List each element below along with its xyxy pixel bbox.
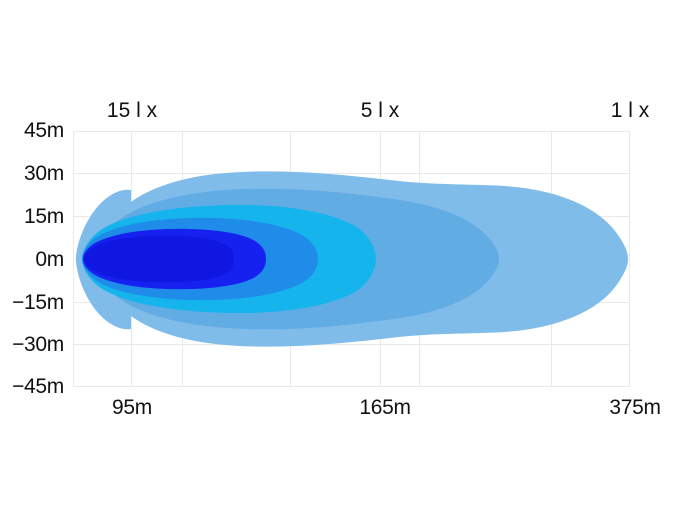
y-axis-tick-15m: 15m xyxy=(0,206,64,227)
x-axis-top-label-5lx: 5 l x xyxy=(320,100,440,121)
y-axis-tick-neg30m: −30m xyxy=(0,334,64,355)
y-axis-tick-neg15m: −15m xyxy=(0,292,64,313)
y-axis-tick-30m: 30m xyxy=(0,163,64,184)
x-axis-bottom-label-375m: 375m xyxy=(575,397,695,418)
x-axis-bottom-label-95m: 95m xyxy=(72,397,192,418)
beam-pattern-chart: 45m 30m 15m 0m −15m −30m −45m 15 l x 5 l… xyxy=(0,0,700,525)
beam-diagram-svg xyxy=(0,0,700,525)
x-axis-bottom-label-165m: 165m xyxy=(325,397,445,418)
isolux-contour-core xyxy=(84,236,234,282)
y-axis-tick-neg45m: −45m xyxy=(0,376,64,397)
x-axis-top-label-1lx: 1 l x xyxy=(570,100,690,121)
isolux-layers xyxy=(76,171,628,346)
x-axis-top-label-15lx: 15 l x xyxy=(72,100,192,121)
y-axis-tick-0m: 0m xyxy=(0,249,64,270)
y-axis-tick-45m: 45m xyxy=(0,120,64,141)
